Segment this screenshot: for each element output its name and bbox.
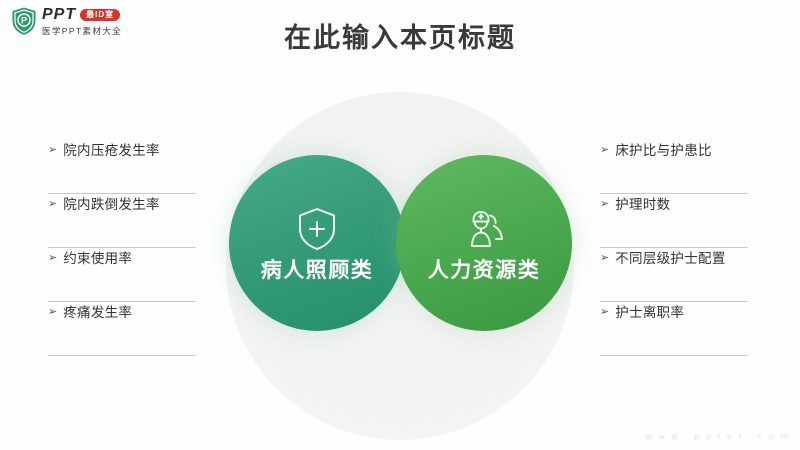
list-item-label: 不同层级护士配置 <box>615 249 725 268</box>
list-item[interactable]: ➢ 疼痛发生率 <box>48 302 196 356</box>
list-item[interactable]: ➢ 床护比与护患比 <box>600 140 748 194</box>
nurse-people-icon <box>460 206 508 252</box>
category-label: 病人照顾类 <box>261 260 374 281</box>
bullet-arrow-icon: ➢ <box>600 303 609 322</box>
list-item-label: 约束使用率 <box>63 249 132 268</box>
footer-watermark: w w w . p p t e r . c o m <box>646 431 790 441</box>
bullet-arrow-icon: ➢ <box>48 141 57 160</box>
bullet-arrow-icon: ➢ <box>600 141 609 160</box>
list-item[interactable]: ➢ 护理时数 <box>600 194 748 248</box>
list-item-label: 院内跌倒发生率 <box>63 195 160 214</box>
category-circle-patient-care[interactable]: 病人照顾类 <box>229 155 405 331</box>
list-item[interactable]: ➢ 约束使用率 <box>48 248 196 302</box>
list-item[interactable]: ➢ 护士离职率 <box>600 302 748 356</box>
list-item[interactable]: ➢ 院内压疮发生率 <box>48 140 196 194</box>
list-item-label: 院内压疮发生率 <box>63 141 160 160</box>
bullet-arrow-icon: ➢ <box>48 249 57 268</box>
slide-canvas: P PPT 最ID室 医学PPT素材大全 在此输入本页标题 病人照顾类 <box>0 0 800 450</box>
list-item-label: 床护比与护患比 <box>615 141 712 160</box>
bullet-arrow-icon: ➢ <box>600 249 609 268</box>
category-circle-human-resources[interactable]: 人力资源类 <box>396 155 572 331</box>
list-item[interactable]: ➢ 不同层级护士配置 <box>600 248 748 302</box>
bullet-arrow-icon: ➢ <box>48 303 57 322</box>
page-title: 在此输入本页标题 <box>0 16 800 55</box>
left-indicator-list: ➢ 院内压疮发生率 ➢ 院内跌倒发生率 ➢ 约束使用率 ➢ 疼痛发生率 <box>48 140 196 356</box>
list-item-label: 疼痛发生率 <box>63 303 132 322</box>
bullet-arrow-icon: ➢ <box>48 195 57 214</box>
list-item-label: 护士离职率 <box>615 303 684 322</box>
category-label: 人力资源类 <box>428 260 541 281</box>
right-indicator-list: ➢ 床护比与护患比 ➢ 护理时数 ➢ 不同层级护士配置 ➢ 护士离职率 <box>600 140 748 356</box>
bullet-arrow-icon: ➢ <box>600 195 609 214</box>
shield-plus-icon <box>295 206 339 252</box>
list-item[interactable]: ➢ 院内跌倒发生率 <box>48 194 196 248</box>
list-item-label: 护理时数 <box>615 195 670 214</box>
